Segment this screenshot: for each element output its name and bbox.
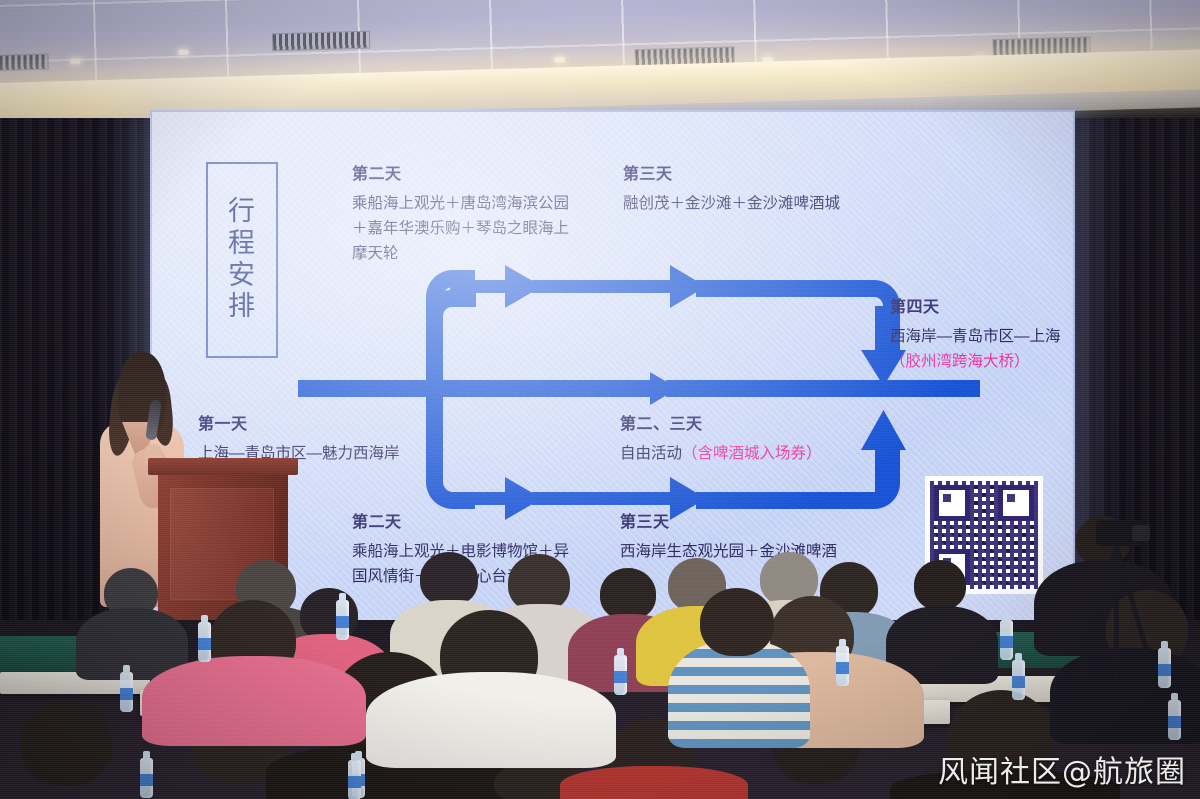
tripod-leg [1114,546,1119,686]
water-bottle [1012,660,1025,700]
audience-head [914,560,966,610]
presentation-photo: 行 程 安 排 [0,0,1200,799]
audience-shoulders [560,766,748,799]
audience-head [700,588,774,656]
lectern-top [148,458,298,475]
audience-shoulders [142,656,366,746]
projection-screen: 行 程 安 排 [150,110,1075,626]
audience-head [420,552,478,606]
water-bottle [198,622,211,662]
water-bottle [336,600,349,640]
water-bottle [1158,648,1171,688]
ceiling-downlight [555,57,565,62]
tripod-leg [1076,545,1119,681]
watermark: 风闻社区@航旅圈 [938,747,1186,791]
water-bottle [120,672,133,712]
water-bottle [348,760,361,799]
ceiling-vent [272,31,370,52]
camera-lens-icon [1132,525,1150,541]
water-bottle [140,758,153,798]
water-bottle [1168,700,1181,740]
tripod-leg [1114,545,1157,681]
water-bottle [614,655,627,695]
audience-head [600,568,656,620]
water-bottle [1000,620,1013,660]
audience-shoulders [668,640,810,748]
audience-head [20,700,112,786]
ceiling-vent [0,54,49,72]
water-bottle [836,646,849,686]
ceiling-downlight [71,59,81,64]
audience-shoulders [366,672,616,768]
ceiling-downlight [178,50,188,55]
video-camera-tripod [1082,520,1152,690]
screen-border [150,110,1075,626]
